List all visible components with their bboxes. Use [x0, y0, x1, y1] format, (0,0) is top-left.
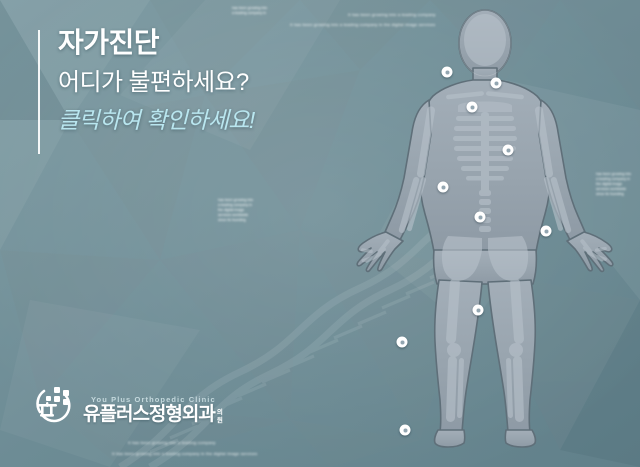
hotspot-hip[interactable] [475, 212, 486, 223]
hotspot-knee[interactable] [473, 305, 484, 316]
clinic-logo[interactable]: You Plus Orthopedic Clinic 유플러스정형외과 의 원 [30, 382, 223, 426]
page-title: 자가진단 [38, 26, 338, 60]
hotspot-abdomen[interactable] [438, 182, 449, 193]
hotspot-chest[interactable] [467, 102, 478, 113]
banner-root: It has been growing into a leading compa… [0, 0, 640, 467]
accent-bar [38, 30, 40, 154]
logo-korean-name: 유플러스정형외과 [83, 405, 215, 425]
logo-english-name: You Plus Orthopedic Clinic [91, 395, 223, 404]
logo-korean-row: 유플러스정형외과 의 원 [83, 405, 223, 425]
headline-block: 자가진단 어디가 불편하세요? 클릭하여 확인하세요! [38, 26, 338, 136]
hotspot-neck[interactable] [442, 67, 453, 78]
hotspot-wrist[interactable] [541, 226, 552, 237]
hotspot-shin[interactable] [397, 337, 408, 348]
logo-text: You Plus Orthopedic Clinic 유플러스정형외과 의 원 [83, 395, 223, 426]
hotspot-ankle[interactable] [400, 425, 411, 436]
yu-plus-circle-mark-icon [30, 382, 78, 426]
hotspot-elbow[interactable] [503, 145, 514, 156]
headline-cta: 클릭하여 확인하세요! [38, 104, 338, 136]
human-body-anatomy-front-icon [330, 0, 640, 467]
headline-question: 어디가 불편하세요? [38, 66, 338, 100]
logo-suffix-bottom: 원 [217, 417, 223, 424]
body-diagram[interactable] [330, 0, 640, 467]
logo-korean-suffix: 의 원 [217, 409, 223, 425]
logo-suffix-top: 의 [217, 409, 223, 416]
hotspot-shoulder[interactable] [491, 78, 502, 89]
